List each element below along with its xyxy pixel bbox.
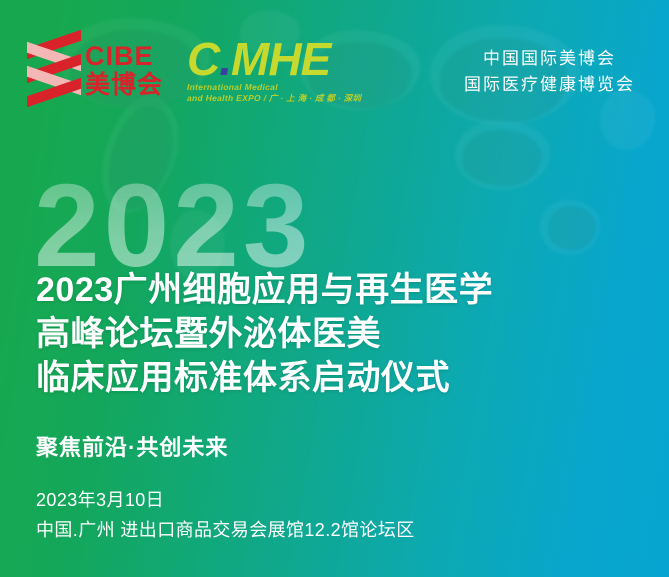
title-line-2: 高峰论坛暨外泌体医美 xyxy=(36,312,493,356)
page-title: 2023广州细胞应用与再生医学 高峰论坛暨外泌体医美 临床应用标准体系启动仪式 xyxy=(36,268,493,401)
organization-name-2: 国际医疗健康博览会 xyxy=(464,72,635,98)
cibe-logo: CIBE 美博会 xyxy=(30,37,163,103)
poster-header: CIBE 美博会 C.MHE International Medical and… xyxy=(0,0,669,128)
organization-name-1: 中国国际美博会 xyxy=(464,46,635,72)
cmhe-wordmark: C.MHE xyxy=(187,36,361,82)
cibe-english-name: CIBE xyxy=(85,43,163,70)
cmhe-dot-icon: . xyxy=(219,33,231,85)
cmhe-logo: C.MHE International Medical and Health E… xyxy=(187,36,361,105)
title-line-3: 临床应用标准体系启动仪式 xyxy=(36,356,493,400)
logo-group: CIBE 美博会 C.MHE International Medical and… xyxy=(30,36,361,105)
organization-names: 中国国际美博会 国际医疗健康博览会 xyxy=(464,46,635,99)
cibe-logo-text: CIBE 美博会 xyxy=(85,43,163,98)
title-line-1: 2023广州细胞应用与再生医学 xyxy=(36,268,493,312)
event-poster: CIBE 美博会 C.MHE International Medical and… xyxy=(0,0,669,577)
event-date: 2023年3月10日 xyxy=(36,486,415,516)
tagline: 聚焦前沿·共创未来 xyxy=(36,430,228,462)
event-meta: 2023年3月10日 中国.广州 进出口商品交易会展馆12.2馆论坛区 xyxy=(36,486,415,545)
cibe-chinese-name: 美博会 xyxy=(85,73,163,98)
cibe-zigzag-icon xyxy=(30,37,78,103)
event-venue: 中国.广州 进出口商品交易会展馆12.2馆论坛区 xyxy=(36,516,415,546)
cmhe-subtitle-line2: and Health EXPO / 广 · 上 海 · 成 都 · 深圳 xyxy=(187,93,361,104)
